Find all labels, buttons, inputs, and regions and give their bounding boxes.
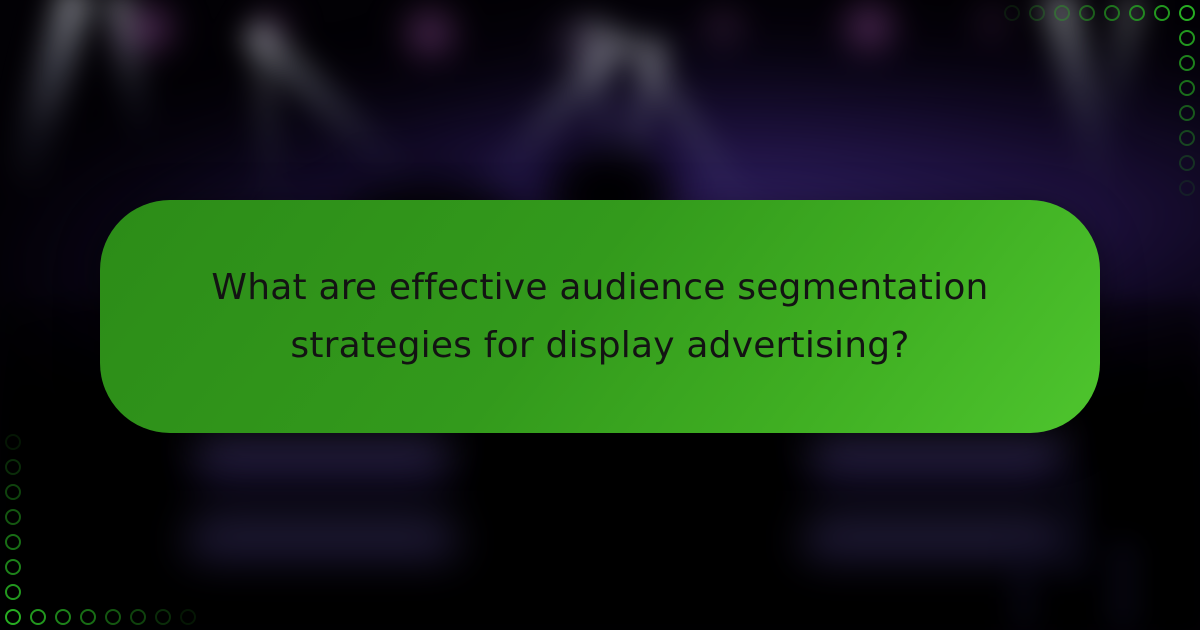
question-text: What are effective audience segmentation… (160, 259, 1040, 375)
question-card: What are effective audience segmentation… (100, 200, 1100, 433)
poster-canvas: What are effective audience segmentation… (0, 0, 1200, 630)
